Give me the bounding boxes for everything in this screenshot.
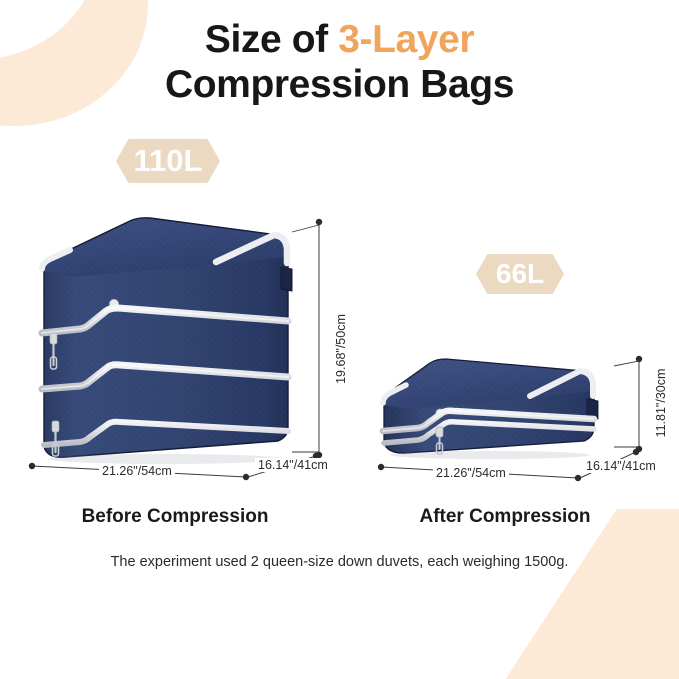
dimension-lines-after xyxy=(0,0,679,679)
dimension-width-after: 21.26"/54cm xyxy=(433,466,509,480)
infographic-canvas: Size of 3-Layer Compression Bags 110L 66… xyxy=(0,0,679,679)
caption-after-compression: After Compression xyxy=(370,506,640,528)
caption-before-compression: Before Compression xyxy=(40,506,310,528)
footnote-text: The experiment used 2 queen-size down du… xyxy=(0,554,679,570)
dimension-depth-after: 16.14"/41cm xyxy=(583,459,659,473)
dimension-height-after: 11.81"/30cm xyxy=(654,355,668,451)
